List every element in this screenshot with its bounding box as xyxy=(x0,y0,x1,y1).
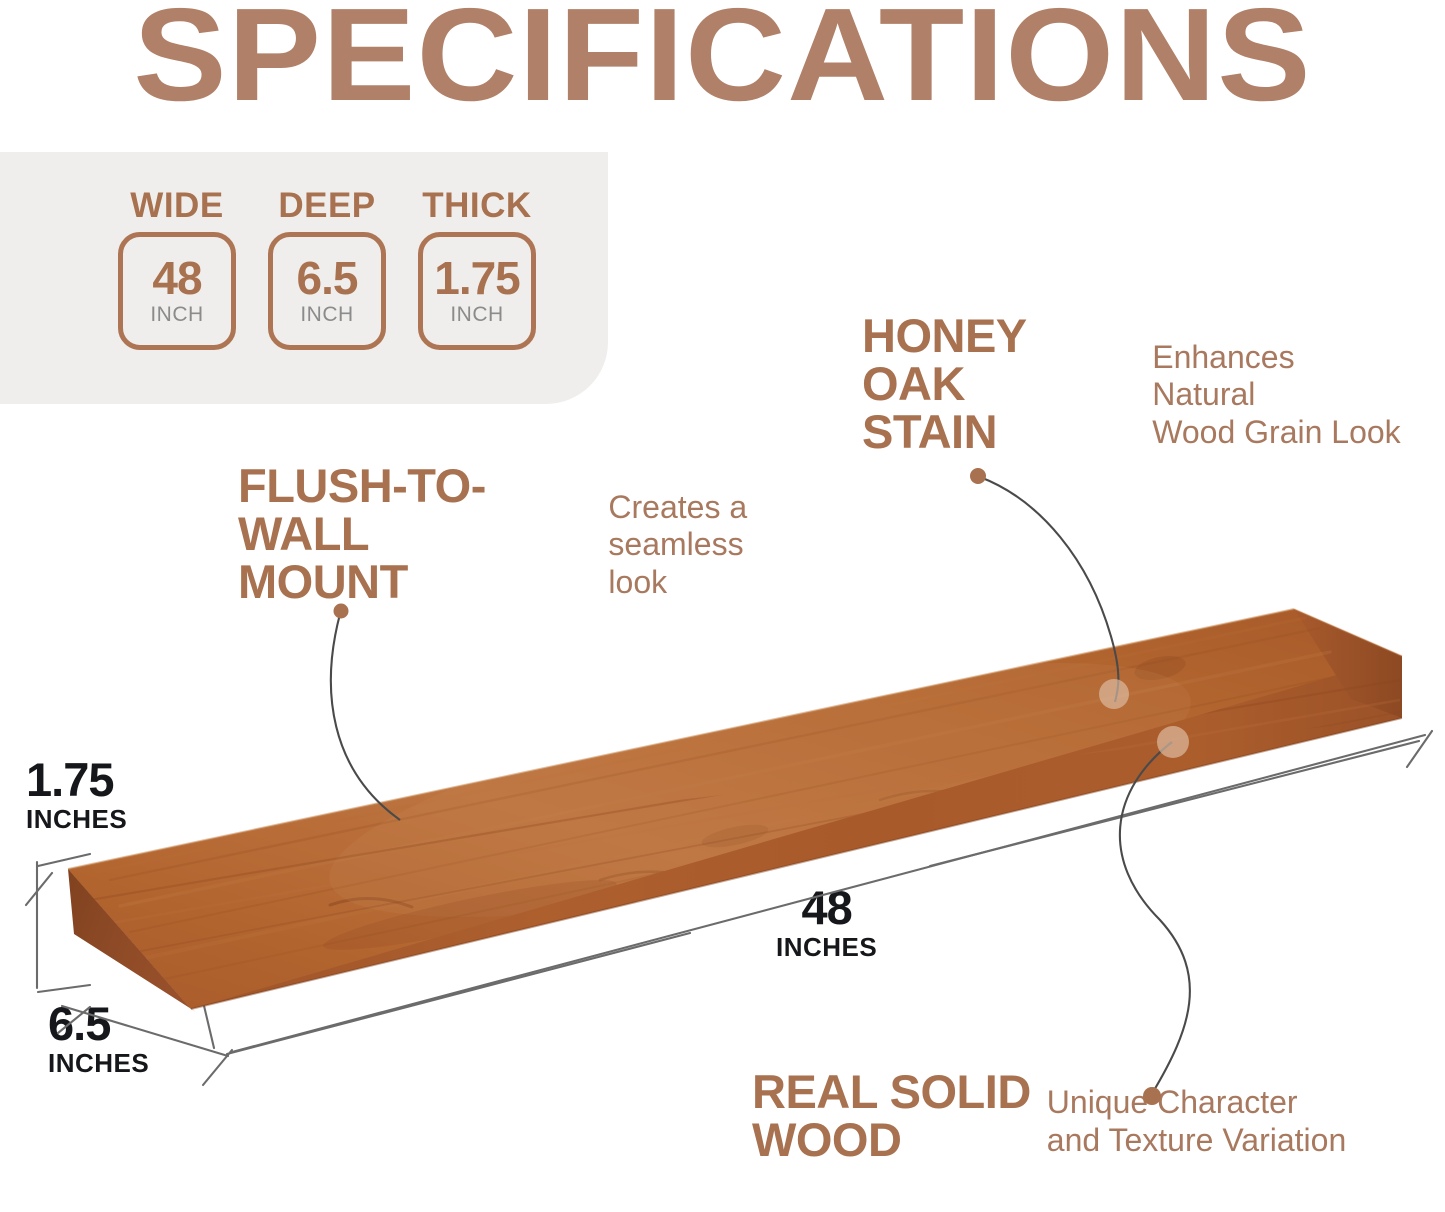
leader-target-dot-honey-oak-stain xyxy=(1099,679,1129,709)
spec-item-wide: WIDE 48 INCH xyxy=(118,188,236,350)
spec-item-thick: THICK 1.75 INCH xyxy=(418,188,536,350)
spec-item-deep: DEEP 6.5 INCH xyxy=(268,188,386,350)
leader-origin-dot-honey-oak-stain xyxy=(970,468,986,484)
spec-label-wide: WIDE xyxy=(130,188,223,223)
dimension-label-width: 48 INCHES xyxy=(776,884,877,960)
spec-unit-deep: INCH xyxy=(300,304,353,325)
spec-value-wide: 48 xyxy=(152,257,201,301)
leader-line-real-solid-wood xyxy=(1120,742,1190,1092)
dimension-label-depth: 6.5 INCHES xyxy=(48,1000,149,1076)
shelf-right-end-cap xyxy=(1294,609,1402,718)
dimension-unit-width: INCHES xyxy=(776,934,877,960)
dimension-unit-thickness: INCHES xyxy=(26,806,127,832)
spec-box-deep: 6.5 INCH xyxy=(268,232,386,350)
shelf-front-grain xyxy=(90,680,1400,962)
spec-box-wide: 48 INCH xyxy=(118,232,236,350)
dimension-lines xyxy=(26,731,1432,1085)
shelf-front-face xyxy=(68,656,1402,1009)
shelf-top-face xyxy=(68,609,1402,1009)
spec-unit-thick: INCH xyxy=(450,304,503,325)
shelf-left-end-cap xyxy=(68,869,191,1009)
dimension-value-depth: 6.5 xyxy=(48,1000,149,1047)
spec-box-thick: 1.75 INCH xyxy=(418,232,536,350)
callout-real-solid-wood: REAL SOLID WOOD Unique Character and Tex… xyxy=(752,1068,1392,1164)
leader-target-dot-real-solid-wood xyxy=(1157,726,1189,758)
specs-panel: WIDE 48 INCH DEEP 6.5 INCH THICK 1.75 IN… xyxy=(0,152,608,404)
specs-row: WIDE 48 INCH DEEP 6.5 INCH THICK 1.75 IN… xyxy=(118,188,536,350)
spec-label-deep: DEEP xyxy=(278,188,375,223)
callout-desc-honey-oak-stain: Enhances Natural Wood Grain Look xyxy=(1152,339,1402,456)
callout-title-honey-oak-stain: HONEY OAK STAIN xyxy=(862,312,1136,456)
spec-unit-wide: INCH xyxy=(150,304,203,325)
leader-line-flush-to-wall-mount xyxy=(331,614,400,820)
dimension-value-width: 48 xyxy=(776,884,877,931)
dimension-unit-depth: INCHES xyxy=(48,1050,149,1076)
spec-label-thick: THICK xyxy=(422,188,531,223)
callout-desc-flush-to-wall-mount: Creates a seamless look xyxy=(608,489,798,606)
leader-line-honey-oak-stain xyxy=(980,477,1118,702)
callout-title-flush-to-wall-mount: FLUSH-TO-WALL MOUNT xyxy=(238,462,592,606)
shelf-left-end-face xyxy=(68,869,196,1012)
spec-value-thick: 1.75 xyxy=(434,257,520,301)
callout-title-real-solid-wood: REAL SOLID WOOD xyxy=(752,1068,1031,1164)
dimension-value-thickness: 1.75 xyxy=(26,756,127,803)
page-title: SPECIFICATIONS xyxy=(0,0,1445,127)
wood-shelf-illustration xyxy=(68,609,1402,1012)
infographic-canvas: SPECIFICATIONS WIDE 48 INCH DEEP 6.5 INC… xyxy=(0,0,1445,1212)
callout-honey-oak-stain: HONEY OAK STAIN Enhances Natural Wood Gr… xyxy=(862,312,1402,456)
dimension-label-thickness: 1.75 INCHES xyxy=(26,756,127,832)
callout-desc-real-solid-wood: Unique Character and Texture Variation xyxy=(1047,1084,1346,1164)
spec-value-deep: 6.5 xyxy=(297,257,358,301)
shelf-top-grain xyxy=(95,610,1366,980)
callout-flush-to-wall-mount: FLUSH-TO-WALL MOUNT Creates a seamless l… xyxy=(238,462,798,606)
